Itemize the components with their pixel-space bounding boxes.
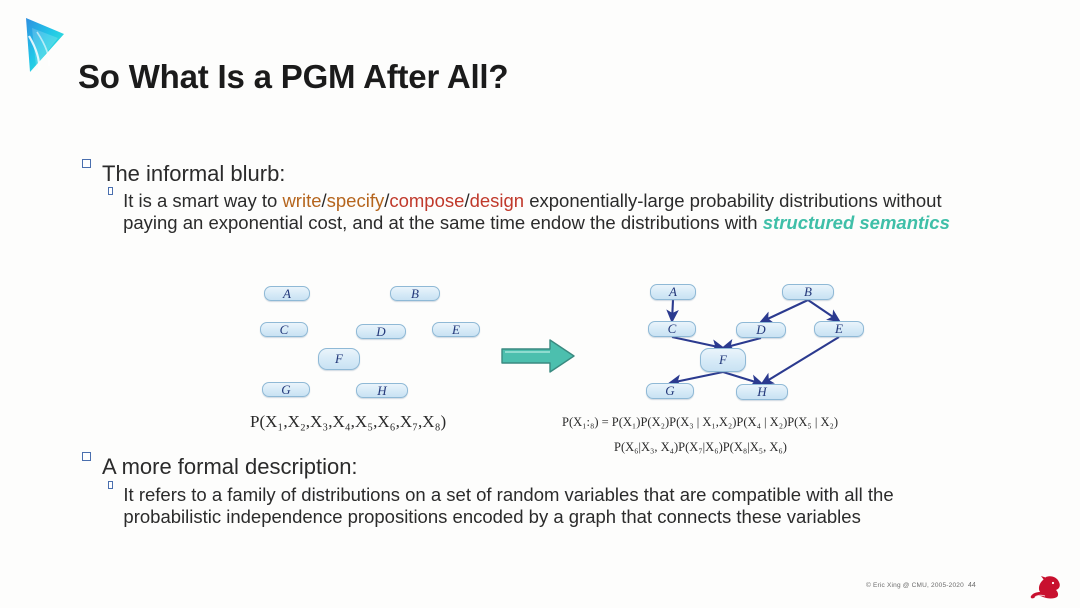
text-run: It is a smart way to: [123, 190, 282, 211]
graph-edge-e-h: [762, 337, 839, 384]
graph-node-f: F: [700, 348, 746, 372]
graph-edge-b-e: [808, 300, 839, 321]
graph-edge-c-f: [672, 337, 723, 348]
bullet-square-icon: [82, 159, 91, 168]
sub-bullet-family-of-distributions-text: It refers to a family of distributions o…: [123, 484, 988, 528]
graph-edge-f-g: [670, 372, 723, 383]
graph-node-c: C: [260, 322, 308, 337]
text-run: specify: [327, 190, 385, 211]
text-run: write: [282, 190, 321, 211]
graph-node-b: B: [390, 286, 440, 301]
graph-node-c: C: [648, 321, 696, 337]
bullet-formal-description: A more formal description:: [82, 455, 682, 479]
graph-edge-d-f: [723, 338, 761, 348]
graph-node-h: H: [736, 384, 788, 400]
graph-node-d: D: [736, 322, 786, 338]
text-run: structured semantics: [763, 212, 950, 233]
sub-bullet-smart-way-text: It is a smart way to write/specify/compo…: [123, 190, 970, 234]
graph-node-d: D: [356, 324, 406, 339]
graph-edge-a-c: [672, 300, 673, 321]
text-run: compose: [389, 190, 464, 211]
bullet-square-icon: [82, 452, 91, 461]
cyan-swoosh-logo-icon: [10, 8, 72, 80]
transform-arrow-icon: [500, 336, 578, 376]
formula-joint-distribution: P(X₁,X₂,X₃,X₄,X₅,X₆,X₇,X₈): [250, 412, 446, 432]
bullet-informal-blurb-label: The informal blurb:: [102, 162, 285, 186]
text-run: design: [470, 190, 525, 211]
graph-edge-f-h: [723, 372, 762, 384]
graph-node-g: G: [262, 382, 310, 397]
bullet-formal-description-label: A more formal description:: [102, 455, 358, 479]
cmu-scotty-dog-logo-icon: [1026, 574, 1066, 602]
bullet-square-icon: [108, 481, 113, 489]
sub-bullet-family-of-distributions: It refers to a family of distributions o…: [108, 484, 988, 528]
graph-node-f: F: [318, 348, 360, 370]
footer-page-number: 44: [968, 582, 976, 589]
graph-node-h: H: [356, 383, 408, 398]
footer-credit: © Eric Xing @ CMU, 2005-2020: [866, 582, 964, 589]
sub-bullet-smart-way: It is a smart way to write/specify/compo…: [108, 190, 970, 234]
bullet-informal-blurb: The informal blurb:: [82, 162, 682, 186]
graph-node-b: B: [782, 284, 834, 300]
graph-node-a: A: [650, 284, 696, 300]
slide-canvas: So What Is a PGM After All? The informal…: [0, 0, 1080, 608]
formula-factorized-line2: P(X₆|X₃, X₄)P(X₇|X₆)P(X₈|X₅, X₆): [614, 440, 787, 455]
formula-factorized-line1: P(X₁:₈) = P(X₁)P(X₂)P(X₃ | X₁,X₂)P(X₄ | …: [562, 415, 838, 430]
bullet-square-icon: [108, 187, 113, 195]
diagram-bayesian-network: ABCDEFGH: [634, 280, 884, 408]
page-title: So What Is a PGM After All?: [78, 58, 508, 96]
diagram-unconnected-nodes: ABCDEFGH: [246, 280, 496, 405]
graph-edge-b-d: [761, 300, 808, 322]
graph-node-e: E: [814, 321, 864, 337]
graph-node-g: G: [646, 383, 694, 399]
text-run: It refers to a family of distributions o…: [123, 484, 893, 527]
graph-node-e: E: [432, 322, 480, 337]
graph-node-a: A: [264, 286, 310, 301]
